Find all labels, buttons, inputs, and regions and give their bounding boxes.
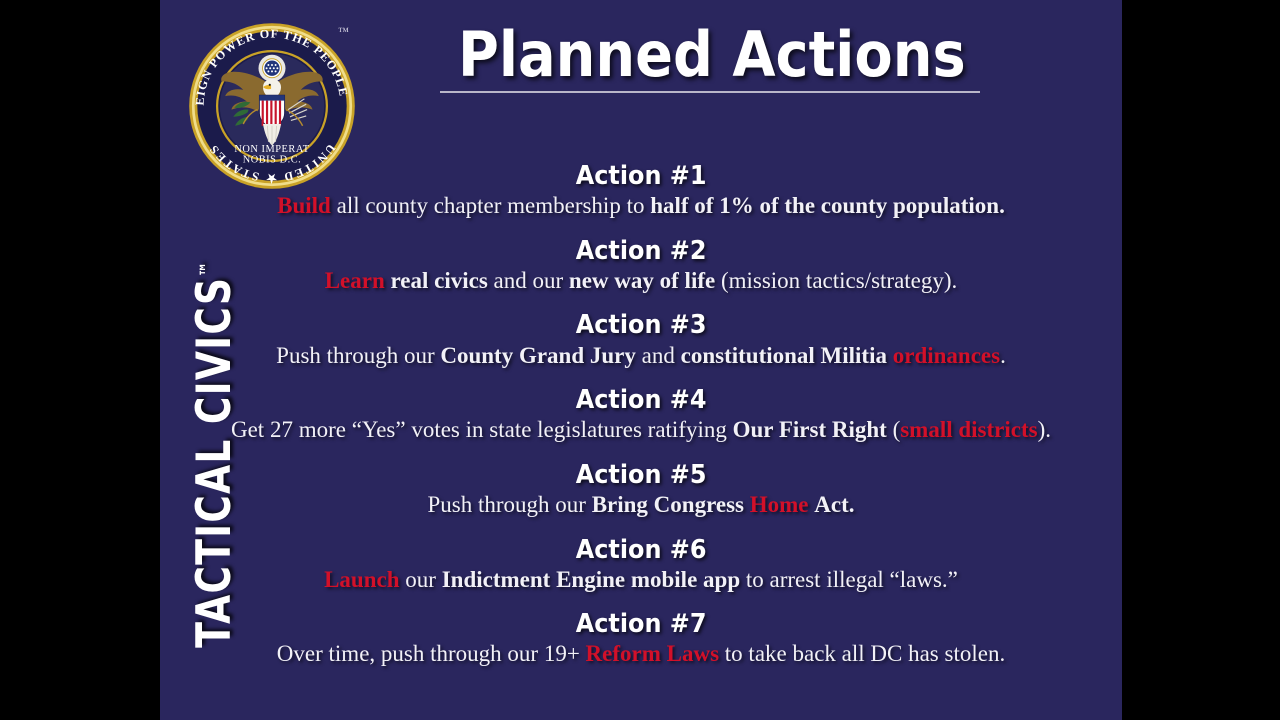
action-emphasis-text: Our First Right bbox=[733, 417, 887, 442]
action-heading: Action #6 bbox=[576, 536, 707, 565]
action-plain-text: . bbox=[1000, 343, 1006, 368]
action-emphasis-text: Bring Congress bbox=[592, 492, 744, 517]
action-heading: Action #2 bbox=[576, 237, 707, 266]
action-emphasis-text: constitutional Militia bbox=[681, 343, 887, 368]
seal-trademark-mark: ™ bbox=[338, 26, 349, 38]
action-plain-text: to arrest illegal “laws.” bbox=[740, 567, 958, 592]
action-plain-text: (mission tactics/strategy). bbox=[715, 268, 957, 293]
action-plain-text: all county chapter membership to bbox=[331, 193, 650, 218]
action-keyword-highlight: ordinances bbox=[893, 343, 1000, 368]
action-heading: Action #7 bbox=[576, 610, 707, 639]
action-item: Action #5Push through our Bring Congress… bbox=[160, 461, 1122, 519]
action-description: Build all county chapter membership to h… bbox=[160, 192, 1122, 220]
action-keyword-highlight: small districts bbox=[900, 417, 1037, 442]
action-emphasis-text: half of 1% of the county population. bbox=[650, 193, 1005, 218]
seal-motto-line-1: NON IMPERAT bbox=[234, 144, 309, 155]
letterbox-left bbox=[0, 0, 160, 720]
action-item: Action #4Get 27 more “Yes” votes in stat… bbox=[160, 386, 1122, 444]
actions-list: Action #1Build all county chapter member… bbox=[160, 162, 1122, 685]
action-plain-text: and our bbox=[488, 268, 569, 293]
action-heading: Action #1 bbox=[576, 162, 707, 191]
action-heading: Action #4 bbox=[576, 386, 707, 415]
action-keyword-highlight: Launch bbox=[324, 567, 399, 592]
slide-stage: SOVEREIGN POWER OF THE PEOPLE OF THE UNI… bbox=[0, 0, 1280, 720]
action-plain-text: ( bbox=[887, 417, 900, 442]
action-plain-text: our bbox=[400, 567, 442, 592]
action-item: Action #1Build all county chapter member… bbox=[160, 162, 1122, 220]
action-description: Get 27 more “Yes” votes in state legisla… bbox=[160, 416, 1122, 444]
action-item: Action #6Launch our Indictment Engine mo… bbox=[160, 536, 1122, 594]
page-title: Planned Actions bbox=[458, 22, 962, 87]
action-plain-text: ). bbox=[1038, 417, 1051, 442]
action-emphasis-text: new way of life bbox=[569, 268, 715, 293]
title-underline-rule bbox=[440, 91, 980, 93]
action-emphasis-text: Indictment Engine mobile app bbox=[442, 567, 740, 592]
letterbox-right bbox=[1122, 0, 1280, 720]
action-plain-text: Push through our bbox=[428, 492, 592, 517]
action-keyword-highlight: Build bbox=[277, 193, 331, 218]
action-plain-text: Get 27 more “Yes” votes in state legisla… bbox=[231, 417, 733, 442]
action-heading: Action #5 bbox=[576, 461, 707, 490]
action-emphasis-text: real civics bbox=[391, 268, 488, 293]
action-item: Action #2Learn real civics and our new w… bbox=[160, 237, 1122, 295]
action-description: Push through our Bring Congress Home Act… bbox=[160, 491, 1122, 519]
action-description: Over time, push through our 19+ Reform L… bbox=[160, 640, 1122, 668]
page-title-block: Planned Actions bbox=[430, 22, 990, 93]
action-description: Push through our County Grand Jury and c… bbox=[160, 342, 1122, 370]
action-item: Action #3Push through our County Grand J… bbox=[160, 311, 1122, 369]
action-plain-text: Over time, push through our 19+ bbox=[277, 641, 586, 666]
action-keyword-highlight: Reform Laws bbox=[586, 641, 720, 666]
action-item: Action #7Over time, push through our 19+… bbox=[160, 610, 1122, 668]
action-emphasis-text: Act. bbox=[814, 492, 854, 517]
action-description: Launch our Indictment Engine mobile app … bbox=[160, 566, 1122, 594]
action-plain-text: to take back all DC has stolen. bbox=[719, 641, 1005, 666]
action-description: Learn real civics and our new way of lif… bbox=[160, 267, 1122, 295]
action-keyword-highlight: Home bbox=[750, 492, 809, 517]
action-emphasis-text: County Grand Jury bbox=[440, 343, 636, 368]
action-plain-text: and bbox=[636, 343, 681, 368]
action-heading: Action #3 bbox=[576, 311, 707, 340]
action-plain-text: Push through our bbox=[276, 343, 440, 368]
action-keyword-highlight: Learn bbox=[325, 268, 385, 293]
slide-content: SOVEREIGN POWER OF THE PEOPLE OF THE UNI… bbox=[160, 0, 1122, 720]
